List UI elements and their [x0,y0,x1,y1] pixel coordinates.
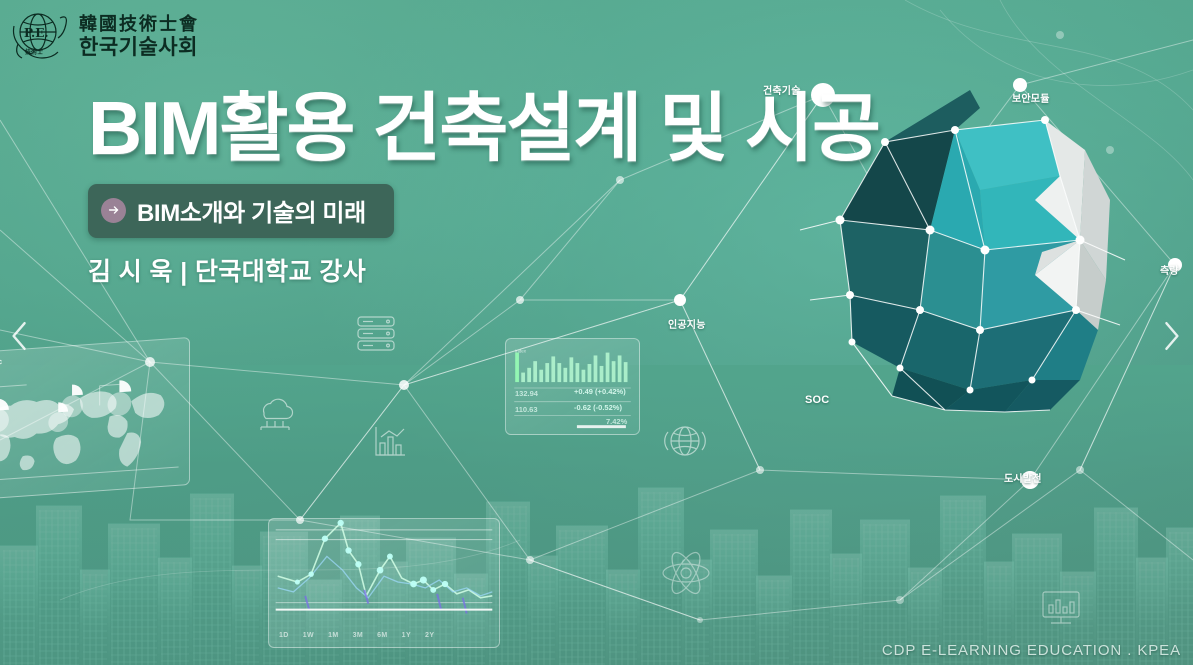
line-chart-widget-panel: 1D 1W 1M 3M 6M 1Y 2Y [268,518,500,648]
timeframe-selector[interactable]: 1D 1W 1M 3M 6M 1Y 2Y [279,632,434,639]
chevron-right-icon[interactable] [1160,320,1182,352]
timeframe-1d[interactable]: 1D [279,632,289,639]
atom-icon [660,548,712,598]
next-slide-button[interactable] [1151,313,1191,359]
subtitle-bar: BIM소개와 기술의 미래 [88,184,394,238]
server-rack-icon [355,315,397,353]
stock-index-widget-panel: Index 132.94 110.63 +0.49 (+0.42%) -0.62… [505,338,640,435]
network-label-security: 보안모듈 [1012,90,1050,105]
organization-korean-name: 한국기술사회 [79,36,199,58]
presenter-info: 김 시 욱 | 단국대학교 강사 [88,252,879,288]
timeframe-1w[interactable]: 1W [303,632,314,639]
world-map-icon [0,338,189,500]
bar-chart-icon [372,425,408,459]
svg-text:技術士: 技術士 [25,48,43,56]
timeframe-3m[interactable]: 3M [353,632,364,639]
footer-branding: CDP E-LEARNING EDUCATION . KPEA [882,642,1181,659]
stock-change-up: +0.49 (+0.42%) [574,387,626,396]
network-label-urban: 도시발전 [1004,470,1042,485]
organization-logo: P.E. 技術士 韓國技術士會 한국기술사회 [10,8,199,66]
arrow-right-circle-icon [101,198,126,223]
stock-change-down: -0.62 (-0.52%) [574,403,622,412]
monitor-analytics-icon [1038,588,1084,630]
stock-secondary-value: 110.63 [515,405,538,414]
organization-hanja-name: 韓國技術士會 [79,16,199,35]
page-title: BIM활용 건축설계 및 시공 [88,92,879,166]
organization-name-block: 韓國技術士會 한국기술사회 [79,16,199,58]
line-chart-graphic [269,519,499,647]
world-map-widget-panel: Graphic [0,337,190,501]
cloud-computing-icon [253,395,297,431]
subtitle-text: BIM소개와 기술의 미래 [137,193,366,228]
stock-index-value: 132.94 [515,389,538,398]
timeframe-1m[interactable]: 1M [328,632,339,639]
timeframe-2y[interactable]: 2Y [425,632,434,639]
network-label-survey: 측량 [1160,262,1179,277]
prev-slide-button[interactable] [0,313,40,359]
pe-globe-emblem-icon: P.E. 技術士 [10,8,70,66]
network-label-ai: 인공지능 [668,316,706,331]
stock-small-value: 7.42% [606,417,627,426]
svg-text:P.E.: P.E. [24,26,49,40]
timeframe-1y[interactable]: 1Y [402,632,411,639]
network-label-soc: SOC [805,394,829,406]
timeframe-6m[interactable]: 6M [377,632,388,639]
globe-network-icon [662,420,708,462]
presentation-slide: 건축기술 보안모듈 측량 인공지능 SOC 도시발전 [0,0,1193,665]
headline-block: BIM활용 건축설계 및 시공 BIM소개와 기술의 미래 김 시 욱 | 단국… [88,92,879,288]
chevron-left-icon[interactable] [9,320,31,352]
